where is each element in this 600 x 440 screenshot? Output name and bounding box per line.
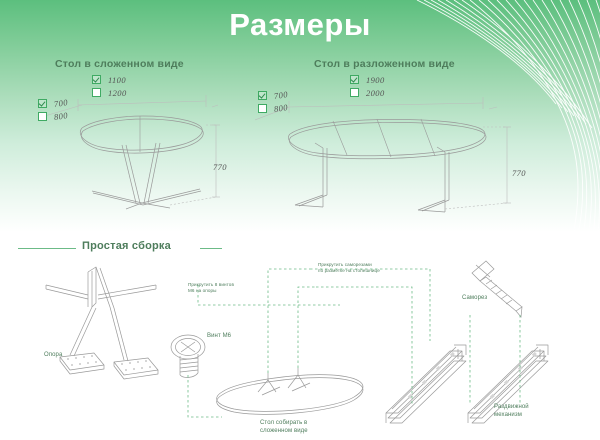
option-value: 1900 xyxy=(366,75,385,85)
option-row[interactable]: 700 xyxy=(38,98,68,109)
checkbox-checked-icon[interactable] xyxy=(92,75,101,84)
checkbox-checked-icon[interactable] xyxy=(350,75,359,84)
unfolded-width-options: 700 800 xyxy=(258,90,288,116)
tabletop-drawing xyxy=(217,368,363,414)
label-screw: Саморез xyxy=(462,295,487,303)
unfolded-length-options: 1900 2000 xyxy=(350,74,385,100)
note-self-tapping: Прикрутить саморезами по разметке на сто… xyxy=(318,262,380,274)
option-value: 800 xyxy=(53,110,68,122)
guide-lines xyxy=(188,269,520,417)
note-screws: Прикрутить 8 винтов М6 на опоры xyxy=(188,282,234,294)
folded-length-options: 1100 1200 xyxy=(92,74,127,100)
folded-width-options: 700 800 xyxy=(38,98,68,124)
assembly-section-header: Простая сборка xyxy=(18,240,538,256)
option-row[interactable]: 800 xyxy=(38,111,68,122)
unfolded-height-dimension: 770 xyxy=(512,168,526,178)
section-caption-unfolded: Стол в разложенном виде xyxy=(314,58,455,70)
option-value: 1100 xyxy=(108,75,126,85)
checkbox-checked-icon[interactable] xyxy=(258,91,267,100)
label-bolt: Винт М6 xyxy=(207,333,231,341)
option-row[interactable]: 1100 xyxy=(92,74,127,85)
option-value: 1200 xyxy=(108,88,127,98)
bolt-drawing xyxy=(171,335,205,377)
option-row[interactable]: 800 xyxy=(258,103,288,114)
checkbox-icon[interactable] xyxy=(38,112,47,121)
header-rule-left xyxy=(18,248,76,249)
option-row[interactable]: 1900 xyxy=(350,74,385,85)
folded-height-dimension: 770 xyxy=(213,162,227,172)
option-row[interactable]: 2000 xyxy=(350,87,385,98)
label-support: Опора xyxy=(44,352,62,360)
checkbox-icon[interactable] xyxy=(92,88,101,97)
option-row[interactable]: 700 xyxy=(258,90,288,101)
header-rule-right xyxy=(200,248,222,249)
support-drawing xyxy=(46,267,158,379)
option-value: 700 xyxy=(53,97,68,109)
unfolded-table-drawing xyxy=(255,85,525,215)
checkbox-icon[interactable] xyxy=(258,104,267,113)
label-mechanism: Раздвижной механизм xyxy=(494,404,529,419)
self-tapping-screw-drawing xyxy=(472,261,522,317)
page-title: Размеры xyxy=(0,6,600,44)
option-value: 800 xyxy=(273,102,288,114)
checkbox-checked-icon[interactable] xyxy=(38,99,47,108)
checkbox-icon[interactable] xyxy=(350,88,359,97)
poster-canvas: Размеры Стол в сложенном виде Стол в раз… xyxy=(0,0,600,440)
label-fold-note: Стол собирать в сложенном виде xyxy=(260,420,308,435)
option-value: 2000 xyxy=(366,88,385,98)
section-caption-folded: Стол в сложенном виде xyxy=(55,58,184,70)
option-value: 700 xyxy=(273,89,288,101)
assembly-title: Простая сборка xyxy=(82,240,171,252)
option-row[interactable]: 1200 xyxy=(92,87,127,98)
